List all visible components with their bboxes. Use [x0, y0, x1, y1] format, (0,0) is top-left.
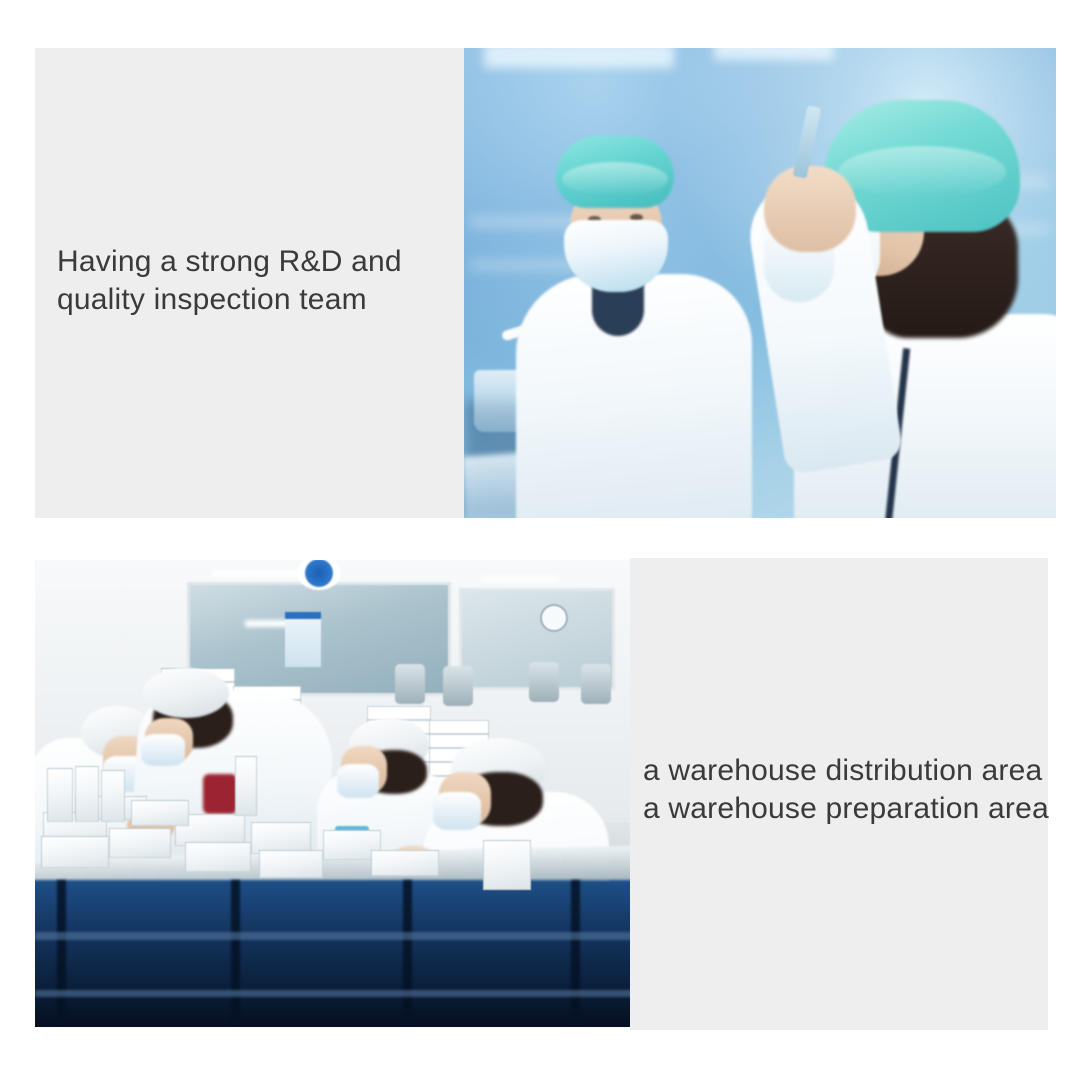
carton-7	[259, 850, 323, 878]
ceiling-lamp-1	[211, 570, 303, 577]
table-leg-1	[57, 880, 66, 1027]
carton-2	[41, 836, 109, 868]
carton-3	[109, 828, 171, 858]
upright-carton-2	[75, 766, 99, 822]
technician-b-hand	[764, 166, 856, 252]
bottom-caption-line-1: a warehouse distribution area	[643, 752, 1049, 790]
top-caption-text: Having a strong R&D and quality inspecti…	[57, 243, 402, 319]
steel-canister-4	[581, 664, 611, 704]
technician-a-hairnet	[556, 136, 674, 208]
wall-notice-sign	[285, 612, 321, 667]
lab-ceiling-light-2	[714, 48, 834, 60]
warehouse-packing-photo	[35, 560, 630, 1027]
upright-carton-1	[47, 768, 73, 822]
ceiling-lamp-3	[481, 576, 559, 582]
steel-canister-2	[443, 666, 473, 706]
carton-11	[483, 840, 531, 890]
carton-12	[371, 850, 439, 876]
page-canvas: Having a strong R&D and quality inspecti…	[0, 0, 1080, 1080]
steel-table-underside	[35, 880, 630, 1027]
packer-3-face-mask	[337, 764, 379, 798]
carton-10	[131, 800, 189, 826]
lab-ceiling-light	[484, 48, 674, 68]
table-leg-4	[571, 880, 580, 1027]
top-caption-line-2: quality inspection team	[57, 281, 402, 319]
packer-2-red-accent	[203, 774, 237, 814]
carton-5	[185, 842, 251, 872]
upright-carton-3	[101, 770, 125, 822]
steel-canister-1	[395, 664, 425, 704]
table-rail-lower	[35, 990, 630, 997]
packer-2-face-mask	[141, 734, 185, 766]
lab-inspection-photo	[464, 48, 1056, 518]
steel-canister-3	[529, 662, 559, 702]
packer-2-hairnet	[143, 668, 229, 718]
upright-carton-4	[235, 756, 257, 816]
packer-4-face-mask	[433, 792, 481, 830]
table-leg-3	[403, 880, 412, 1027]
bottom-caption-text: a warehouse distribution area a warehous…	[643, 752, 1049, 828]
table-rail-upper	[35, 932, 630, 940]
table-leg-2	[231, 880, 240, 1027]
bottom-caption-line-2: a warehouse preparation area	[643, 790, 1049, 828]
top-caption-line-1: Having a strong R&D and	[57, 243, 402, 281]
wall-clock-icon	[540, 604, 568, 632]
